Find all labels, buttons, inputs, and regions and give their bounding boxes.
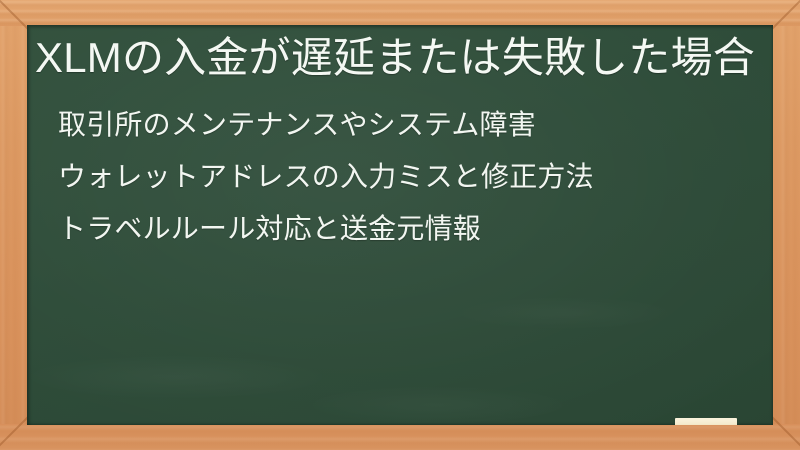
board-bullet-list: 取引所のメンテナンスやシステム障害 ウォレットアドレスの入力ミスと修正方法 トラ… bbox=[58, 99, 758, 255]
frame-top-rail-woodgrain bbox=[0, 0, 800, 26]
chalkboard-surface: XLMの入金が遅延または失敗した場合 取引所のメンテナンスやシステム障害 ウォレ… bbox=[27, 25, 773, 425]
frame-bottom-rail-woodgrain bbox=[0, 424, 800, 450]
list-item: ウォレットアドレスの入力ミスと修正方法 bbox=[58, 151, 758, 203]
list-item: トラベルルール対応と送金元情報 bbox=[58, 203, 758, 255]
frame-miter-bottom-left bbox=[0, 415, 30, 449]
list-item: 取引所のメンテナンスやシステム障害 bbox=[58, 99, 758, 151]
board-title: XLMの入金が遅延または失敗した場合 bbox=[35, 33, 765, 83]
chalk-stick bbox=[675, 418, 737, 425]
chalkboard-wooden-frame: XLMの入金が遅延または失敗した場合 取引所のメンテナンスやシステム障害 ウォレ… bbox=[0, 0, 800, 450]
frame-miter-bottom-right bbox=[770, 415, 800, 449]
